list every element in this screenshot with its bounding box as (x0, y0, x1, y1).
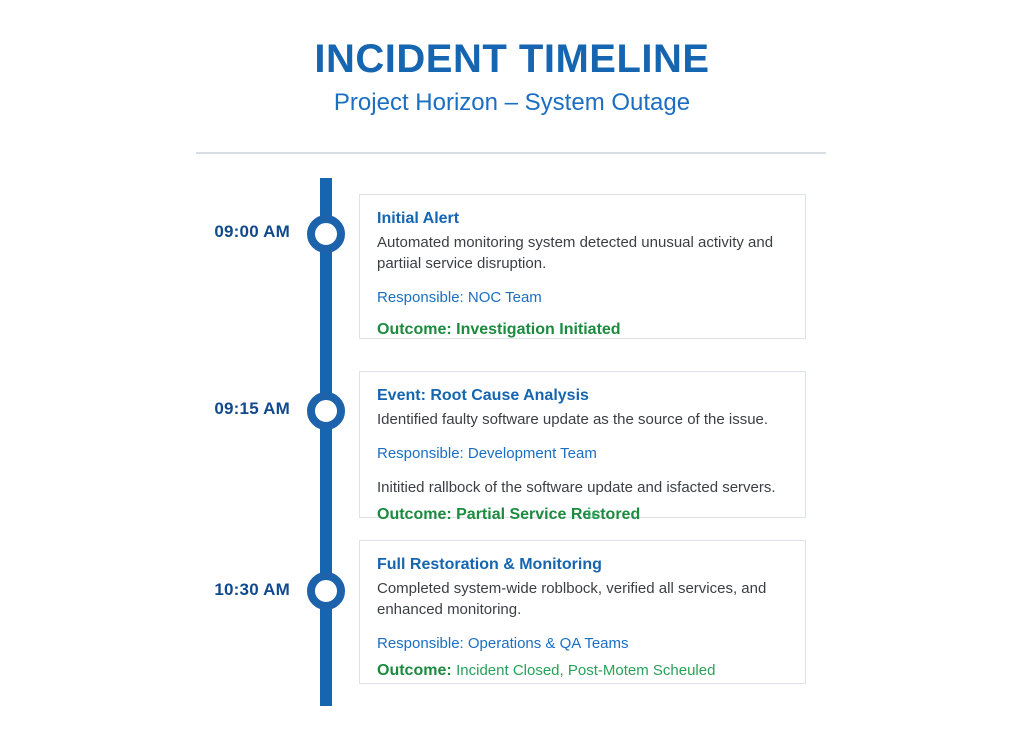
timeline-card-title: Full Restoration & Monitoring (377, 555, 787, 576)
timeline-time-label: 09:15 AM (120, 399, 290, 419)
timeline-marker-icon[interactable] (307, 392, 345, 430)
timeline-marker-icon[interactable] (307, 572, 345, 610)
timeline-card[interactable]: Initial Alert Automated monitoring syste… (359, 194, 806, 339)
timeline-card-description: Identified faulty software update as the… (377, 409, 787, 430)
timeline-card-responsible: Responsible: Operations & QA Teams (377, 633, 787, 654)
timeline-card-outcome: Outcome: Incident Closed, Post-Motem Sch… (377, 660, 787, 682)
timeline-card-outcome-value: Incident Closed, Post-Motem Scheuled (456, 662, 715, 679)
timeline-card-outcome-label: Outcome: Partial Service Restored ic (377, 504, 640, 526)
timeline-card-title: Initial Alert (377, 209, 787, 230)
timeline-time-label: 10:30 AM (120, 580, 290, 600)
outcome-text: Outcome: Partial Service Restored (377, 506, 640, 523)
timeline-card-outcome: Outcome: Partial Service Restored ic (377, 504, 787, 526)
timeline-card-extra-note: Inititied rallbock of the software updat… (377, 477, 787, 498)
timeline-card-title: Event: Root Cause Analysis (377, 386, 787, 407)
timeline: 09:00 AM Initial Alert Automated monitor… (0, 0, 1024, 747)
timeline-card-description: Completed system-wide roblbock, verified… (377, 578, 787, 621)
timeline-card[interactable]: Event: Root Cause Analysis Identified fa… (359, 371, 806, 518)
timeline-card-outcome-label: Outcome: (377, 662, 452, 679)
timeline-card-outcome: Outcome: Investigation Initiated (377, 319, 787, 341)
timeline-time-label: 09:00 AM (120, 222, 290, 242)
timeline-card-responsible: Responsible: NOC Team (377, 287, 787, 308)
timeline-marker-icon[interactable] (307, 215, 345, 253)
timeline-card-outcome-label: Outcome: Investigation Initiated (377, 321, 621, 338)
timeline-card-description: Automated monitoring system detected unu… (377, 232, 787, 275)
timeline-card-responsible: Responsible: Development Team (377, 443, 787, 464)
timeline-card[interactable]: Full Restoration & Monitoring Completed … (359, 540, 806, 684)
